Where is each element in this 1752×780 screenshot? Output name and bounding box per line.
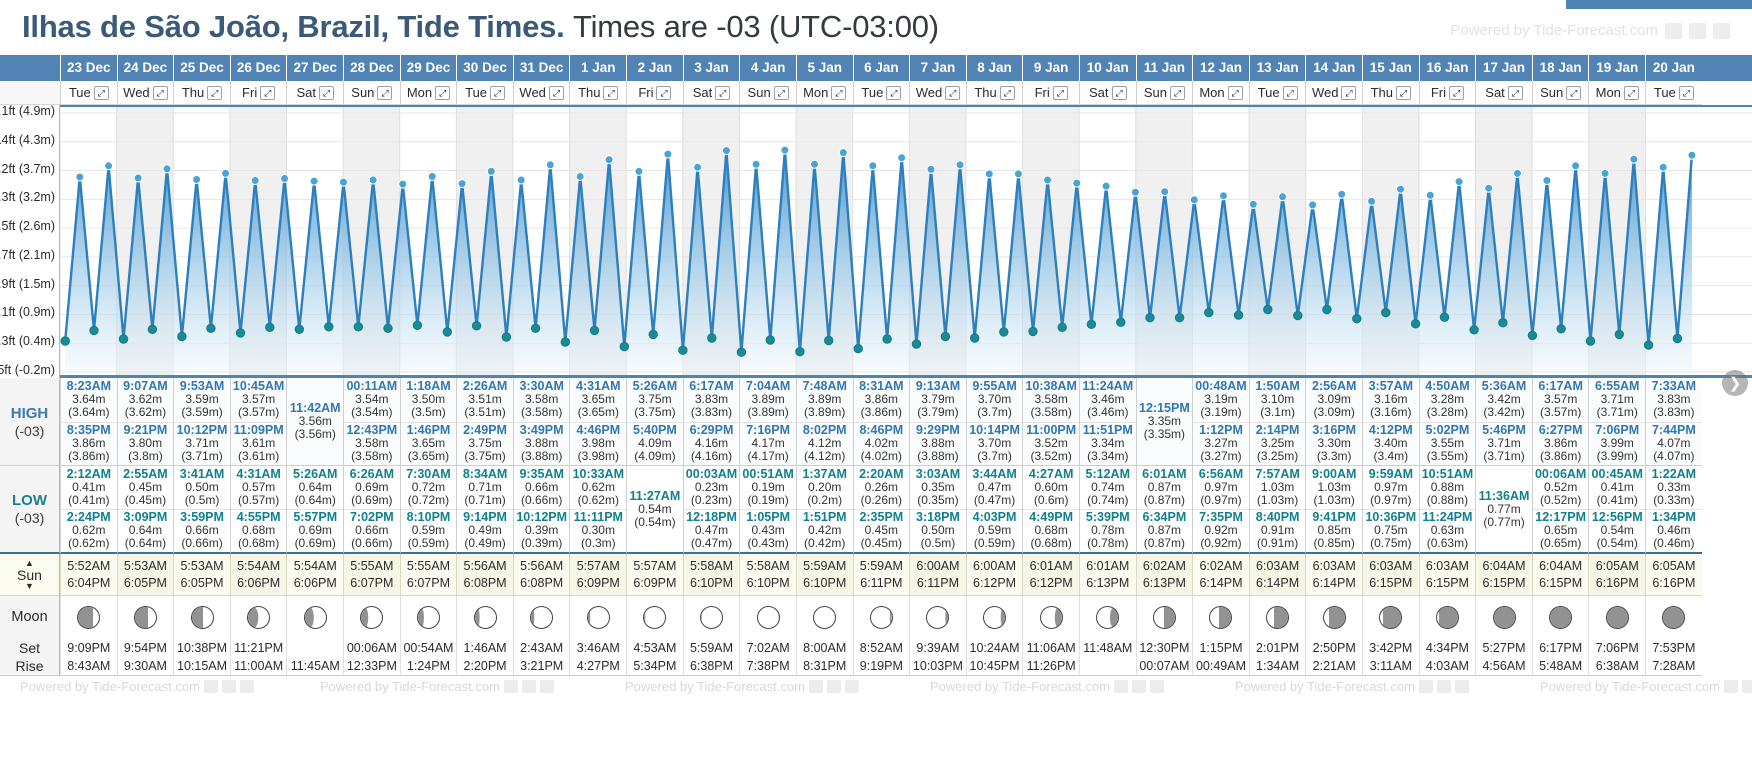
sun-cell: 5:53AM6:05PM: [173, 554, 230, 596]
wind-icon: [1419, 680, 1433, 693]
moonrise-time: 12:33PM: [343, 657, 400, 676]
moonset-time: 9:09PM: [60, 638, 117, 657]
weekday-label: Sun: [1144, 85, 1167, 100]
moon-cell: [60, 596, 117, 638]
sunrise-time: 5:54AM: [294, 558, 337, 575]
moon-phase-icon: [1266, 606, 1289, 629]
weekday-label: Fri: [1431, 85, 1446, 100]
low-tide-cell: 4:31AM0.57m(0.57m)4:55PM0.68m(0.68m): [230, 466, 287, 554]
moon-illuminated-part: [835, 607, 836, 628]
expand-day-icon[interactable]: ⤢: [435, 86, 450, 100]
sunset-time: 6:16PM: [1596, 575, 1639, 592]
tide-height-secondary: (0.62m): [68, 537, 109, 550]
sun-cell: 6:02AM6:14PM: [1192, 554, 1249, 596]
moon-illuminated-part: [418, 607, 424, 628]
expand-day-icon[interactable]: ⤢: [1170, 86, 1185, 100]
sunrise-time: 5:57AM: [633, 558, 676, 575]
weekday-header-cell: Sat⤢: [1475, 81, 1532, 105]
moon-cell: [683, 596, 740, 638]
tide-height-secondary: (4.02m): [861, 450, 902, 463]
date-header-cell[interactable]: 25 Dec: [173, 55, 230, 81]
date-header-cell[interactable]: 18 Jan: [1532, 55, 1589, 81]
date-header-row: 23 Dec24 Dec25 Dec26 Dec27 Dec28 Dec29 D…: [0, 55, 1752, 81]
weekday-header-cell: Tue⤢: [456, 81, 513, 105]
date-header-cell[interactable]: 15 Jan: [1362, 55, 1419, 81]
low-tide-event: 9:59AM0.97m(0.97m): [1363, 466, 1419, 509]
weekday-label: Sun: [351, 85, 374, 100]
tide-height-secondary: (0.64m): [295, 494, 336, 507]
sunrise-time: 5:53AM: [124, 558, 167, 575]
moon-phase-icon: [530, 606, 553, 629]
low-tide-cell: 00:06AM0.52m(0.52m)12:17PM0.65m(0.65m): [1532, 466, 1589, 554]
high-tide-cell: 12:15PM3.35m(3.35m): [1136, 378, 1193, 466]
sunset-time: 6:15PM: [1482, 575, 1525, 592]
moonset-time: 5:27PM: [1475, 638, 1532, 657]
high-tide-cell: 10:45AM3.57m(3.57m)11:09PM3.61m(3.61m): [230, 378, 287, 466]
moon-cell: [1362, 596, 1419, 638]
sunset-time: 6:14PM: [1256, 575, 1299, 592]
moon-cell: [966, 596, 1023, 638]
tide-height-secondary: (4.17m): [747, 450, 788, 463]
weekday-label: Sun: [748, 85, 771, 100]
low-tide-cell: 00:51AM0.19m(0.19m)1:05PM0.43m(0.43m): [739, 466, 796, 554]
moon-cell: [1022, 596, 1079, 638]
low-tide-event: 6:56AM0.97m(0.97m): [1193, 466, 1249, 509]
low-tide-event: 12:17PM0.65m(0.65m): [1533, 509, 1589, 552]
low-tide-cell: 6:01AM0.87m(0.87m)6:34PM0.87m(0.87m): [1136, 466, 1193, 554]
sunset-time: 6:13PM: [1143, 575, 1186, 592]
moon-illuminated-part: [1000, 607, 1005, 628]
date-header-cell[interactable]: 9 Jan: [1022, 55, 1079, 81]
y-axis-tick-label: 12.2ft (3.7m): [0, 162, 55, 176]
weekday-header-cell: Thu⤢: [173, 81, 230, 105]
date-header-cell[interactable]: 7 Jan: [909, 55, 966, 81]
low-tide-event: 6:26AM0.69m(0.69m): [344, 466, 400, 509]
low-tide-row: LOW (-03) 2:12AM0.41m(0.41m)2:24PM0.62m(…: [0, 466, 1752, 554]
tide-height-secondary: (3.71m): [1483, 450, 1524, 463]
date-header-cell[interactable]: 1 Jan: [569, 55, 626, 81]
tide-height-secondary: (0.5m): [921, 537, 956, 550]
tide-height-secondary: (0.54m): [1597, 537, 1638, 550]
expand-day-icon[interactable]: ⤢: [1566, 86, 1581, 100]
expand-day-icon[interactable]: ⤢: [1624, 86, 1639, 100]
high-tide-event: 10:45AM3.57m(3.57m): [231, 378, 287, 422]
weekday-header-cell: Sun⤢: [1136, 81, 1193, 105]
low-tide-cell: 9:00AM1.03m(1.03m)9:41PM0.85m(0.85m): [1305, 466, 1362, 554]
moon-row: Moon: [0, 596, 1752, 638]
date-header-cell[interactable]: 30 Dec: [456, 55, 513, 81]
tide-height-secondary: (0.43m): [747, 537, 788, 550]
date-header-cell[interactable]: 3 Jan: [683, 55, 740, 81]
moon-cell: [456, 596, 513, 638]
moonrise-time: 10:45PM: [966, 657, 1023, 676]
low-tide-cell: 3:44AM0.47m(0.47m)4:03PM0.59m(0.59m): [966, 466, 1023, 554]
weekday-label: Tue: [465, 85, 487, 100]
tide-height-secondary: (3.57m): [1540, 406, 1581, 419]
tide-height-secondary: (3.83m): [1653, 406, 1694, 419]
moon-cell: [400, 596, 457, 638]
tide-height-secondary: (4.07m): [1653, 450, 1694, 463]
weekday-header-row: Tue⤢Wed⤢Thu⤢Fri⤢Sat⤢Sun⤢Mon⤢Tue⤢Wed⤢Thu⤢…: [0, 81, 1752, 105]
date-header-cell[interactable]: 6 Jan: [853, 55, 910, 81]
moon-phase-icon: [77, 606, 100, 629]
high-tide-event: 4:31AM3.65m(3.65m): [570, 378, 626, 422]
expand-day-icon[interactable]: ⤢: [153, 86, 168, 100]
wind-icon: [1665, 23, 1682, 39]
date-header-cell[interactable]: 20 Jan: [1645, 55, 1702, 81]
low-tide-event: 4:31AM0.57m(0.57m): [231, 466, 287, 509]
low-tide-event: 1:37AM0.20m(0.2m): [797, 466, 853, 509]
tide-height-secondary: (0.88m): [1427, 494, 1468, 507]
low-tide-timezone: (-03): [15, 510, 45, 526]
powered-by-label: Powered by Tide-Forecast.com: [1235, 679, 1415, 694]
expand-day-icon[interactable]: ⤢: [603, 86, 618, 100]
sunrise-time: 6:00AM: [916, 558, 959, 575]
moon-phase-icon: [1662, 606, 1685, 629]
high-tide-event: 11:24AM3.46m(3.46m): [1080, 378, 1136, 422]
low-tide-cell: 5:26AM0.64m(0.64m)5:57PM0.69m(0.69m): [286, 466, 343, 554]
sunset-time: 6:12PM: [973, 575, 1016, 592]
expand-day-icon[interactable]: ⤢: [1283, 86, 1298, 100]
tide-height-secondary: (0.35m): [917, 494, 958, 507]
expand-day-icon[interactable]: ⤢: [490, 86, 505, 100]
high-tide-cell: 1:50AM3.10m(3.1m)2:14PM3.25m(3.25m): [1249, 378, 1306, 466]
moonset-row: Set 9:09PM9:54PM10:38PM11:21PM00:06AM00:…: [0, 638, 1752, 657]
expand-day-icon[interactable]: ⤢: [1449, 86, 1464, 100]
sun-row: ▲ Sun ▼ 5:52AM6:04PM5:53AM6:05PM5:53AM6:…: [0, 554, 1752, 596]
tide-height-secondary: (0.19m): [747, 494, 788, 507]
low-tide-event: 11:24PM0.63m(0.63m): [1420, 509, 1476, 552]
moon-illuminated-part: [588, 607, 590, 628]
expand-day-icon[interactable]: ⤢: [831, 86, 846, 100]
low-tide-event: 9:35AM0.66m(0.66m): [514, 466, 570, 509]
weekday-header-cell: Mon⤢: [1192, 81, 1249, 105]
sunrise-time: 6:02AM: [1199, 558, 1242, 575]
low-tide-event: 11:27AM0.54m(0.54m): [627, 489, 683, 530]
low-tide-event: 9:00AM1.03m(1.03m): [1306, 466, 1362, 509]
refresh-icon: [1742, 680, 1752, 693]
high-tide-event: 11:00PM3.52m(3.52m): [1023, 422, 1079, 466]
expand-day-icon[interactable]: ⤢: [774, 86, 789, 100]
high-tide-event: 8:46PM4.02m(4.02m): [854, 422, 910, 466]
high-tide-event: 3:57AM3.16m(3.16m): [1363, 378, 1419, 422]
moon-phase-icon: [474, 606, 497, 629]
sun-cell: 5:58AM6:10PM: [683, 554, 740, 596]
y-axis-tick-label: -0.5ft (-0.2m): [0, 363, 55, 377]
sunset-time: 6:09PM: [633, 575, 676, 592]
tide-height-secondary: (0.62m): [578, 494, 619, 507]
moonrise-time: 11:45AM: [286, 657, 343, 676]
moonset-time: 6:17PM: [1532, 638, 1589, 657]
low-tide-event: 1:05PM0.43m(0.43m): [740, 509, 796, 552]
expand-day-icon[interactable]: ⤢: [886, 86, 901, 100]
refresh-icon: [1132, 680, 1146, 693]
tide-height-secondary: (0.68m): [238, 537, 279, 550]
high-tide-event: 6:27PM3.86m(3.86m): [1533, 422, 1589, 466]
expand-day-icon[interactable]: ⤢: [319, 86, 334, 100]
tide-height-secondary: (3.83m): [691, 406, 732, 419]
page-title-timezone: Times are -03 (UTC-03:00): [573, 9, 939, 44]
expand-day-icon[interactable]: ⤢: [715, 86, 730, 100]
date-header-cell[interactable]: 31 Dec: [513, 55, 570, 81]
date-header-cell[interactable]: 24 Dec: [117, 55, 174, 81]
moon-cell: [1249, 596, 1306, 638]
tide-height-secondary: (0.71m): [464, 494, 505, 507]
high-tide-event: 7:44PM4.07m(4.07m): [1646, 422, 1702, 466]
tide-height-secondary: (3.4m): [1373, 450, 1408, 463]
tide-height-secondary: (0.66m): [521, 494, 562, 507]
date-header-cell[interactable]: 5 Jan: [796, 55, 853, 81]
weekday-label: Thu: [182, 85, 204, 100]
expand-day-icon[interactable]: ⤢: [1508, 86, 1523, 100]
high-tide-cell: 11:24AM3.46m(3.46m)11:51PM3.34m(3.34m): [1079, 378, 1136, 466]
sunset-arrow-icon: ▼: [25, 583, 34, 590]
expand-day-icon[interactable]: ⤢: [945, 86, 960, 100]
date-header-cell[interactable]: 8 Jan: [966, 55, 1023, 81]
weekday-label: Tue: [69, 85, 91, 100]
sunrise-time: 5:56AM: [520, 558, 563, 575]
high-tide-event: 9:53AM3.59m(3.59m): [174, 378, 230, 422]
weekday-header-cell: Wed⤢: [909, 81, 966, 105]
high-tide-event: 11:42AM3.56m(3.56m): [287, 401, 343, 442]
moonrise-time: 7:38PM: [739, 657, 796, 676]
tide-height-secondary: (3.98m): [578, 450, 619, 463]
high-tide-cell: 8:23AM3.64m(3.64m)8:35PM3.86m(3.86m): [60, 378, 117, 466]
moonset-time: 2:50PM: [1305, 638, 1362, 657]
expand-day-icon[interactable]: ⤢: [1228, 86, 1243, 100]
tide-time: 11:27AM: [630, 490, 681, 503]
high-tide-event: 6:29PM4.16m(4.16m): [684, 422, 740, 466]
high-tide-event: 7:06PM3.99m(3.99m): [1589, 422, 1645, 466]
sun-cell: 6:00AM6:12PM: [966, 554, 1023, 596]
moonrise-time: [1079, 657, 1136, 676]
expand-day-icon[interactable]: ⤢: [377, 86, 392, 100]
sun-cell: 6:03AM6:14PM: [1305, 554, 1362, 596]
tide-height-secondary: (3.52m): [1030, 450, 1071, 463]
moon-illuminated-part: [1663, 607, 1684, 628]
moonset-time: 8:00AM: [796, 638, 853, 657]
sunrise-time: 6:03AM: [1426, 558, 1469, 575]
high-tide-event: 2:26AM3.51m(3.51m): [457, 378, 513, 422]
expand-day-icon[interactable]: ⤢: [1679, 86, 1694, 100]
tide-height-secondary: (3.35m): [1144, 428, 1185, 441]
weekday-header-cell: Fri⤢: [1419, 81, 1476, 105]
high-tide-timezone: (-03): [15, 423, 45, 439]
sunset-time: 6:07PM: [407, 575, 450, 592]
page-header: Ilhas de São João, Brazil, Tide Times. T…: [0, 0, 1752, 55]
high-tide-event: 6:17AM3.83m(3.83m): [684, 378, 740, 422]
high-tide-event: 3:16PM3.30m(3.3m): [1306, 422, 1362, 466]
sun-columns: 5:52AM6:04PM5:53AM6:05PM5:53AM6:05PM5:54…: [60, 554, 1752, 596]
date-header-cell[interactable]: 27 Dec: [286, 55, 343, 81]
date-header-cell[interactable]: 17 Jan: [1475, 55, 1532, 81]
expand-day-icon[interactable]: ⤢: [1000, 86, 1015, 100]
high-tide-event: 5:26AM3.75m(3.75m): [627, 378, 683, 422]
expand-day-icon[interactable]: ⤢: [207, 86, 222, 100]
weekday-header-cell: Sun⤢: [1532, 81, 1589, 105]
expand-day-icon[interactable]: ⤢: [549, 86, 564, 100]
wind-icon: [204, 680, 218, 693]
moon-cell: [739, 596, 796, 638]
expand-day-icon[interactable]: ⤢: [260, 86, 275, 100]
moon-phase-icon: [813, 606, 836, 629]
high-tide-cell: 00:48AM3.19m(3.19m)1:12PM3.27m(3.27m): [1192, 378, 1249, 466]
moon-phase-icon: [870, 606, 893, 629]
expand-day-icon[interactable]: ⤢: [1396, 86, 1411, 100]
expand-day-icon[interactable]: ⤢: [656, 86, 671, 100]
low-tide-event: 6:34PM0.87m(0.87m): [1137, 509, 1193, 552]
moonrise-time: 2:21AM: [1305, 657, 1362, 676]
sunrise-time: 5:59AM: [860, 558, 903, 575]
tide-curve-plot[interactable]: [60, 105, 1752, 378]
powered-by-label: Powered by Tide-Forecast.com: [20, 679, 200, 694]
surf-icon: [1150, 680, 1164, 693]
tide-height-secondary: (3.89m): [804, 406, 845, 419]
expand-day-icon[interactable]: ⤢: [1341, 86, 1356, 100]
moon-illuminated-part: [701, 607, 702, 628]
moonset-time: 7:53PM: [1645, 638, 1702, 657]
low-tide-event: 00:06AM0.52m(0.52m): [1533, 466, 1589, 509]
tide-height-secondary: (3.61m): [238, 450, 279, 463]
moonrise-row: Rise 8:43AM9:30AM10:15AM11:00AM11:45AM12…: [0, 657, 1752, 676]
moon-phase-icon: [1323, 606, 1346, 629]
high-tide-event: 1:50AM3.10m(3.1m): [1250, 378, 1306, 422]
low-tide-label-text: LOW: [12, 492, 47, 509]
low-tide-event: 6:01AM0.87m(0.87m): [1137, 466, 1193, 509]
y-axis-tick-label: 8.5ft (2.6m): [0, 219, 55, 233]
date-header-cell[interactable]: 23 Dec: [60, 55, 117, 81]
weekday-header-cell: Thu⤢: [569, 81, 626, 105]
sunrise-time: 5:58AM: [747, 558, 790, 575]
moon-cell: [1532, 596, 1589, 638]
tide-height-secondary: (0.72m): [408, 494, 449, 507]
sunset-time: 6:08PM: [520, 575, 563, 592]
wind-icon: [809, 680, 823, 693]
date-header-cell[interactable]: 28 Dec: [343, 55, 400, 81]
moonset-time: 00:06AM: [343, 638, 400, 657]
tide-height-secondary: (3.86m): [1540, 450, 1581, 463]
sun-cell: 6:05AM6:16PM: [1645, 554, 1702, 596]
date-header-cell[interactable]: 11 Jan: [1136, 55, 1193, 81]
moonset-time: 11:21PM: [230, 638, 287, 657]
low-tide-event: 8:40PM0.91m(0.91m): [1250, 509, 1306, 552]
weekday-header-cell: Sun⤢: [739, 81, 796, 105]
sun-cell: 5:58AM6:10PM: [739, 554, 796, 596]
tide-height-secondary: (3.75m): [634, 406, 675, 419]
sunset-time: 6:14PM: [1313, 575, 1356, 592]
expand-day-icon[interactable]: ⤢: [94, 86, 109, 100]
tide-time: 11:36AM: [1479, 490, 1530, 503]
high-tide-event: 5:46PM3.71m(3.71m): [1476, 422, 1532, 466]
moonrise-time: 8:31PM: [796, 657, 853, 676]
powered-by-watermark: Powered by Tide-Forecast.com: [20, 679, 254, 694]
high-tide-cell: 2:26AM3.51m(3.51m)2:49PM3.75m(3.75m): [456, 378, 513, 466]
weekday-label: Tue: [1258, 85, 1280, 100]
powered-by-label: Powered by Tide-Forecast.com: [1450, 22, 1658, 39]
high-tide-cell: 9:13AM3.79m(3.79m)9:29PM3.88m(3.88m): [909, 378, 966, 466]
moonset-time: 10:24AM: [966, 638, 1023, 657]
moon-illuminated-part: [890, 607, 892, 628]
sunset-time: 6:10PM: [803, 575, 846, 592]
weekday-label: Mon: [803, 85, 828, 100]
low-tide-event: 2:35PM0.45m(0.45m): [854, 509, 910, 552]
tide-height-secondary: (3.88m): [917, 450, 958, 463]
tide-height-secondary: (3.19m): [1200, 406, 1241, 419]
date-header-cell[interactable]: 14 Jan: [1305, 55, 1362, 81]
expand-day-icon[interactable]: ⤢: [1053, 86, 1068, 100]
sunrise-time: 6:03AM: [1313, 558, 1356, 575]
high-tide-event: 3:30AM3.58m(3.58m): [514, 378, 570, 422]
moon-illuminated-part: [1550, 607, 1571, 628]
y-axis-tick-label: 4.9ft (1.5m): [0, 277, 55, 291]
moon-label: Moon: [0, 596, 60, 638]
high-tide-event: 6:55AM3.71m(3.71m): [1589, 378, 1645, 422]
moon-cell: [286, 596, 343, 638]
weekday-label: Sat: [296, 85, 316, 100]
date-header-cell[interactable]: 16 Jan: [1419, 55, 1476, 81]
sunrise-time: 5:55AM: [350, 558, 393, 575]
date-header-cell[interactable]: 4 Jan: [739, 55, 796, 81]
moonset-time: 5:59AM: [683, 638, 740, 657]
high-tide-event: 4:46PM3.98m(3.98m): [570, 422, 626, 466]
expand-day-icon[interactable]: ⤢: [1112, 86, 1127, 100]
sunrise-time: 6:05AM: [1596, 558, 1639, 575]
tide-height-secondary: (3.65m): [578, 406, 619, 419]
moonset-time: 11:06AM: [1022, 638, 1079, 657]
low-tide-event: 12:18PM0.47m(0.47m): [684, 509, 740, 552]
powered-by-label: Powered by Tide-Forecast.com: [320, 679, 500, 694]
low-tide-cell: 7:30AM0.72m(0.72m)8:10PM0.59m(0.59m): [400, 466, 457, 554]
low-tide-event: 1:22AM0.33m(0.33m): [1646, 466, 1702, 509]
low-tide-event: 2:24PM0.62m(0.62m): [61, 509, 117, 552]
moonset-label-text: Set: [19, 640, 40, 656]
tide-height-secondary: (3.59m): [181, 406, 222, 419]
moon-phase-icon: [1606, 606, 1629, 629]
moon-cell: [230, 596, 287, 638]
date-header-cell[interactable]: 29 Dec: [400, 55, 457, 81]
weekday-header-cell: Fri⤢: [1022, 81, 1079, 105]
weekday-label: Thu: [578, 85, 600, 100]
moonset-time: 9:54PM: [117, 638, 174, 657]
weekday-label: Mon: [1596, 85, 1621, 100]
low-tide-event: 3:41AM0.50m(0.5m): [174, 466, 230, 509]
moon-phase-icon: [1040, 606, 1063, 629]
date-header-cell[interactable]: 13 Jan: [1249, 55, 1306, 81]
high-tide-cell: 8:31AM3.86m(3.86m)8:46PM4.02m(4.02m): [853, 378, 910, 466]
moonrise-time: 5:34PM: [626, 657, 683, 676]
weekday-header-cell: Sat⤢: [286, 81, 343, 105]
tide-height-secondary: (3.58m): [521, 406, 562, 419]
low-tide-event: 00:45AM0.41m(0.41m): [1589, 466, 1645, 509]
moonset-time: 00:54AM: [400, 638, 457, 657]
date-header-cell[interactable]: 2 Jan: [626, 55, 683, 81]
date-header-cell[interactable]: 19 Jan: [1588, 55, 1645, 81]
powered-by-label: Powered by Tide-Forecast.com: [930, 679, 1110, 694]
scroll-right-button[interactable]: ❯: [1722, 370, 1748, 396]
low-tide-event: 4:27AM0.60m(0.6m): [1023, 466, 1079, 509]
date-header-cell[interactable]: 12 Jan: [1192, 55, 1249, 81]
moon-phase-icon: [134, 606, 157, 629]
date-header-cell[interactable]: 26 Dec: [230, 55, 287, 81]
high-tide-event: 8:02PM4.12m(4.12m): [797, 422, 853, 466]
date-header-cell[interactable]: 10 Jan: [1079, 55, 1136, 81]
high-tide-event: 6:17AM3.57m(3.57m): [1533, 378, 1589, 422]
high-tide-cell: 9:55AM3.70m(3.7m)10:14PM3.70m(3.7m): [966, 378, 1023, 466]
sun-cell: 5:57AM6:09PM: [626, 554, 683, 596]
moon-illuminated-part: [1274, 607, 1288, 628]
low-tide-cell: 3:03AM0.35m(0.35m)3:18PM0.50m(0.5m): [909, 466, 966, 554]
sun-cell: 5:54AM6:06PM: [286, 554, 343, 596]
